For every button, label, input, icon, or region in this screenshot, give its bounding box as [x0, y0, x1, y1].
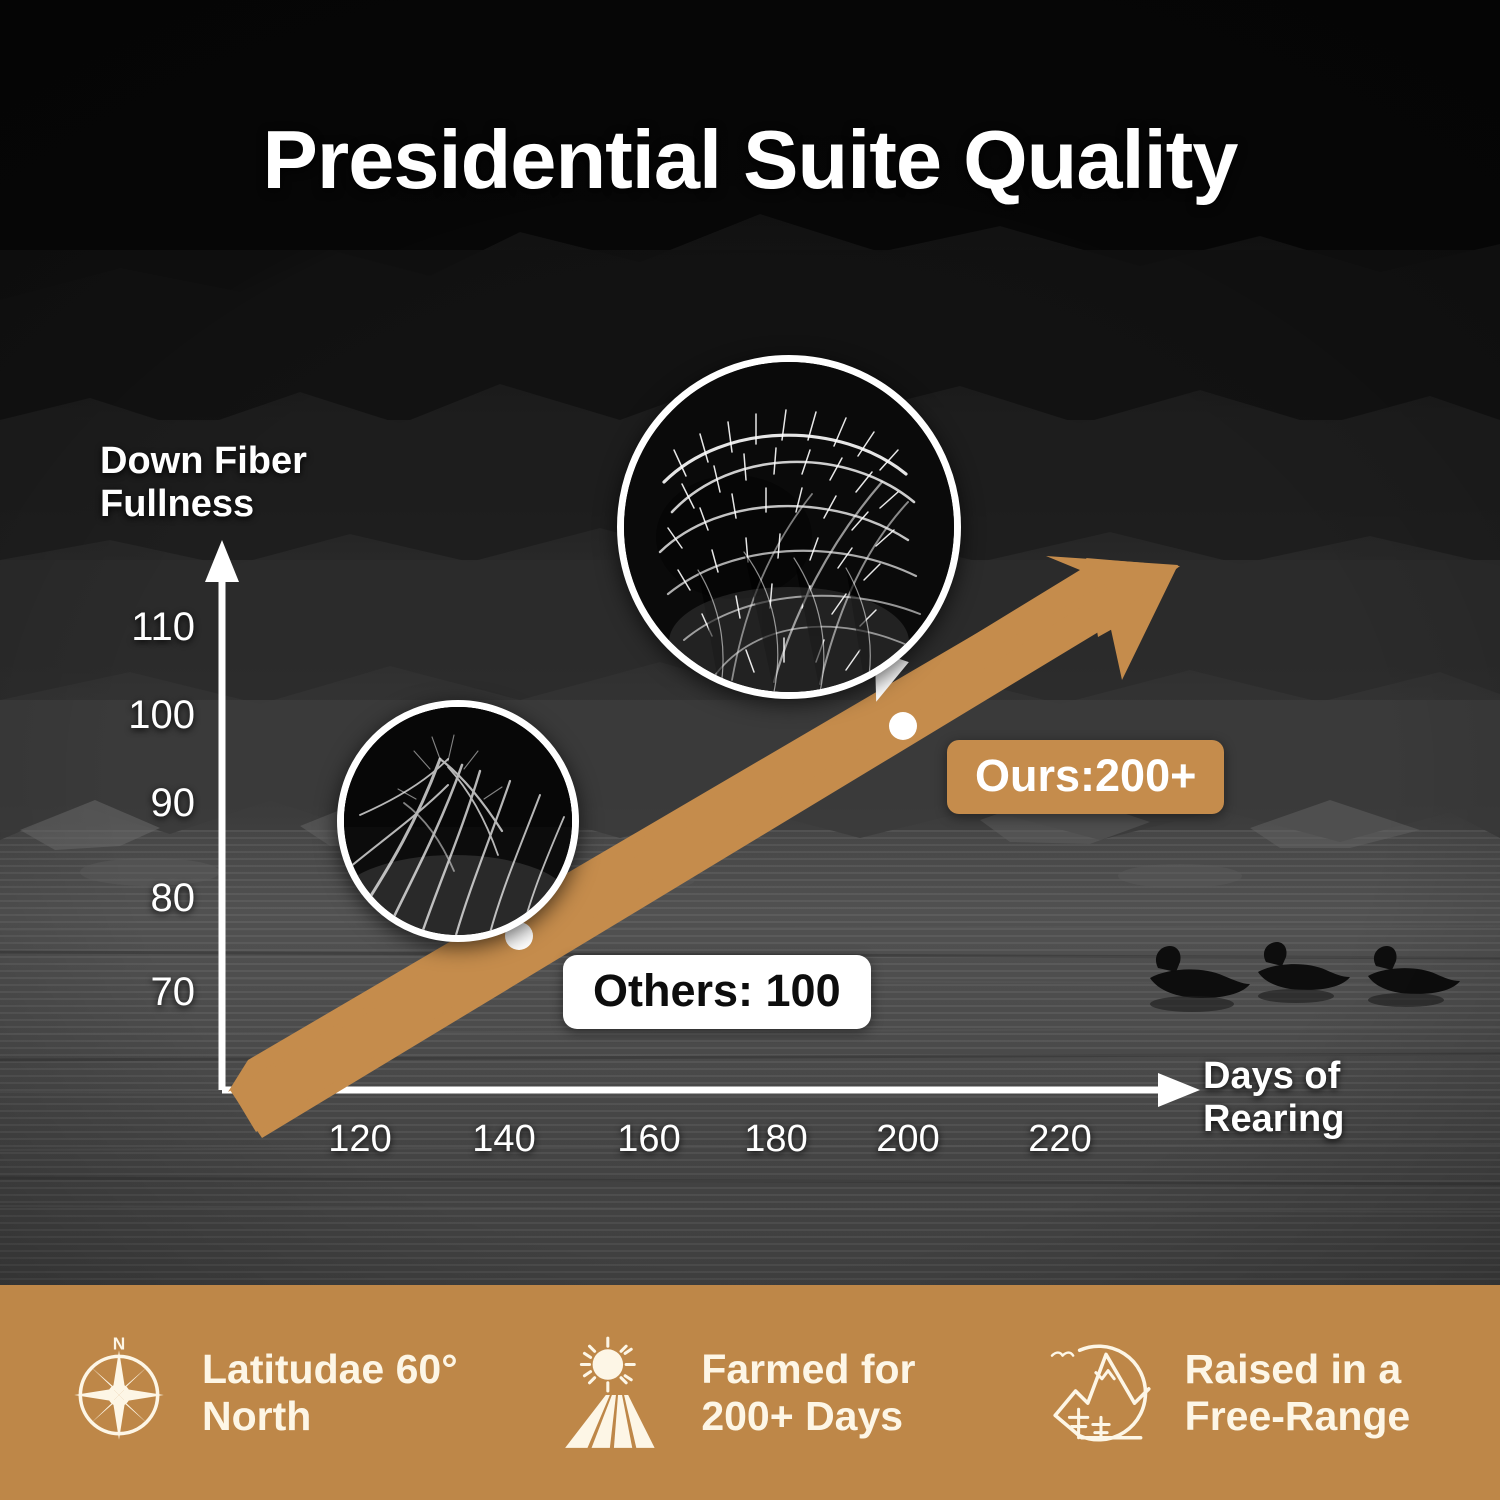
- feature-latitude-line2: North: [202, 1393, 311, 1439]
- infographic-canvas: Presidential Suite Quality Down Fiber Fu…: [0, 0, 1500, 1500]
- down-cluster-dense-illustration: [624, 362, 954, 692]
- y-axis-title-line2: Fullness: [100, 483, 400, 526]
- x-axis-title: Days of Rearing: [1203, 1055, 1500, 1140]
- svg-text:N: N: [113, 1333, 125, 1353]
- feature-latitude: N Latitudae 60° North: [0, 1332, 517, 1454]
- callout-ours: Ours:200+: [947, 740, 1224, 814]
- sun-field-icon: [557, 1332, 679, 1454]
- feature-bar: N Latitudae 60° North: [0, 1285, 1500, 1500]
- y-axis-title-line1: Down Fiber: [100, 440, 400, 483]
- x-tick-220: 220: [1000, 1118, 1120, 1161]
- y-tick-80: 80: [85, 876, 195, 921]
- down-cluster-sparse-illustration: [344, 707, 572, 935]
- feature-farmed-line1: Farmed for: [701, 1346, 915, 1392]
- feature-latitude-text: Latitudae 60° North: [202, 1346, 458, 1439]
- feature-free-range-line2: Free-Range: [1185, 1393, 1411, 1439]
- feature-farmed-days: Farmed for 200+ Days: [517, 1332, 1016, 1454]
- y-tick-90: 90: [85, 781, 195, 826]
- x-tick-160: 160: [589, 1118, 709, 1161]
- feature-free-range-line1: Raised in a: [1185, 1346, 1401, 1392]
- x-tick-140: 140: [444, 1118, 564, 1161]
- feature-free-range: Raised in a Free-Range: [1017, 1332, 1500, 1454]
- y-axis-title: Down Fiber Fullness: [100, 440, 400, 525]
- growth-chart: Down Fiber Fullness Days of Rearing 110 …: [0, 0, 1500, 1290]
- y-tick-110: 110: [85, 605, 195, 650]
- feature-latitude-line1: Latitudae 60°: [202, 1346, 458, 1392]
- y-tick-100: 100: [85, 693, 195, 738]
- x-tick-180: 180: [716, 1118, 836, 1161]
- x-axis-title-line1: Days of: [1203, 1055, 1500, 1098]
- x-tick-120: 120: [300, 1118, 420, 1161]
- mountain-range-icon: [1041, 1332, 1163, 1454]
- x-axis-title-line2: Rearing: [1203, 1098, 1500, 1141]
- magnifier-premium-down: [617, 355, 961, 699]
- feature-farmed-text: Farmed for 200+ Days: [701, 1346, 915, 1439]
- data-point-ours: [889, 712, 917, 740]
- feature-free-range-text: Raised in a Free-Range: [1185, 1346, 1411, 1439]
- x-tick-200: 200: [848, 1118, 968, 1161]
- y-tick-70: 70: [85, 970, 195, 1015]
- feature-farmed-line2: 200+ Days: [701, 1393, 903, 1439]
- compass-icon: N: [58, 1332, 180, 1454]
- magnifier-ordinary-down: [337, 700, 579, 942]
- callout-others: Others: 100: [563, 955, 871, 1029]
